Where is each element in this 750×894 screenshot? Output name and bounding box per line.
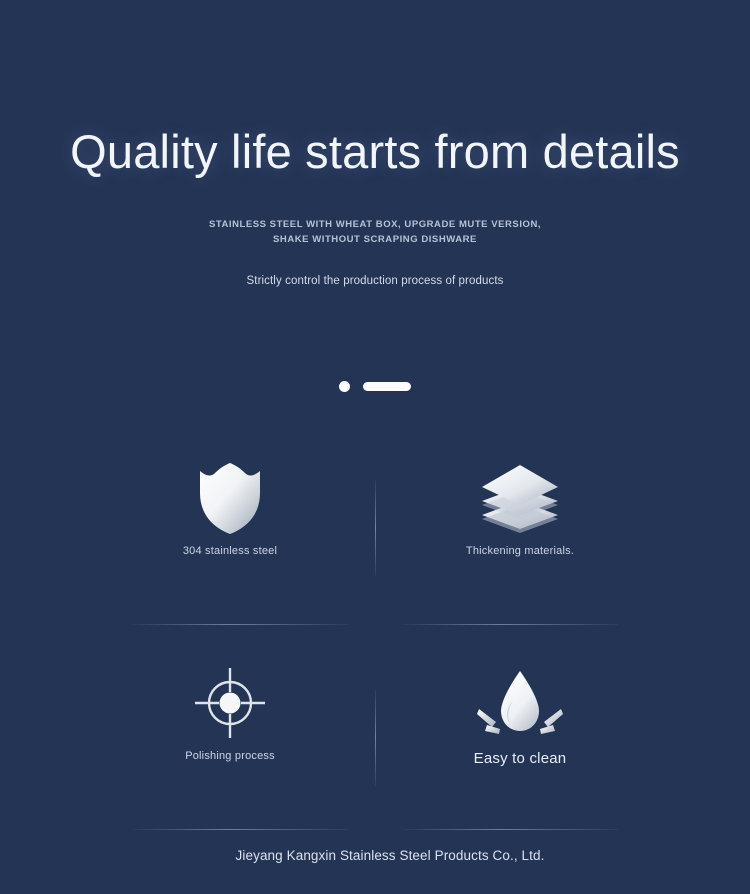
hero-subtitle-line-1: STAINLESS STEEL WITH WHEAT BOX, UPGRADE … [0,217,750,232]
crosshair-icon [95,655,365,750]
feature-label: Thickening materials. [385,545,655,557]
water-drop-icon [385,655,655,750]
page-title: Quality life starts from details [0,126,750,179]
vertical-divider-bottom [375,690,376,786]
feature-label: 304 stainless steel [95,545,365,557]
shield-icon [95,450,365,545]
feature-item-stainless-steel[interactable]: 304 stainless steel [95,450,365,625]
hero-subtitle-line-2: SHAKE WITHOUT SCRAPING DISHWARE [0,232,750,247]
cell-underline [403,829,618,830]
feature-label: Easy to clean [385,750,655,767]
pager-bar-icon[interactable] [363,382,411,391]
hero-subtitle: STAINLESS STEEL WITH WHEAT BOX, UPGRADE … [0,217,750,247]
feature-label: Polishing process [95,750,365,762]
cell-underline [133,829,348,830]
feature-item-polishing-process[interactable]: Polishing process [95,655,365,830]
promo-banner: Quality life starts from details STAINLE… [0,0,750,894]
carousel-pager[interactable] [0,381,750,392]
feature-item-easy-to-clean[interactable]: Easy to clean [385,655,655,830]
feature-grid: 304 stainless steel [95,440,655,820]
hero-note: Strictly control the production process … [0,275,750,287]
feature-item-thickening-materials[interactable]: Thickening materials. [385,450,655,625]
cell-underline [403,624,618,625]
cell-underline [133,624,348,625]
footer-company-name: Jieyang Kangxin Stainless Steel Products… [0,848,750,863]
vertical-divider-top [375,480,376,576]
layers-icon [385,450,655,545]
pager-dot-icon[interactable] [339,381,350,392]
